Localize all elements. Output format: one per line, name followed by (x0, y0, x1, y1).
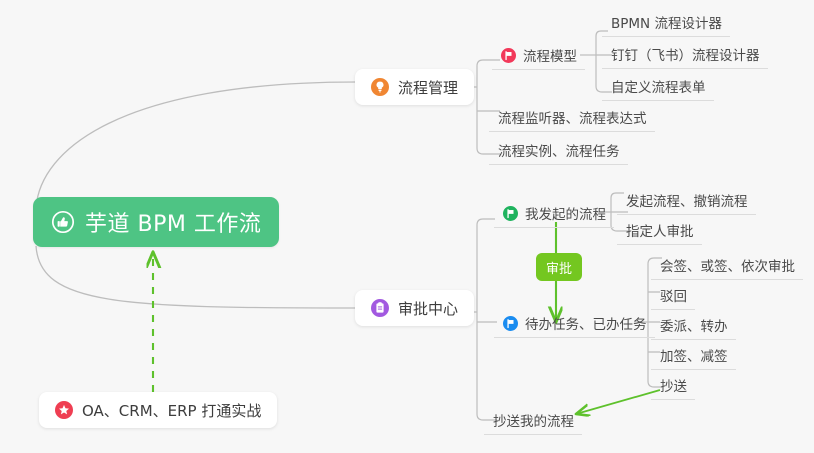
node-label-my-initiated: 我发起的流程 (525, 203, 606, 223)
node-cc-to-me[interactable]: 抄送我的流程 (484, 406, 582, 435)
node-delegate-transfer[interactable]: 委派、转办 (651, 311, 736, 340)
node-reject[interactable]: 驳回 (651, 281, 695, 310)
node-label-listener-expression: 流程监听器、流程表达式 (498, 107, 647, 127)
node-countersign[interactable]: 会签、或签、依次审批 (651, 251, 803, 280)
edge-root-to-process-management (36, 82, 356, 208)
node-label-dingtalk-feishu-designer: 钉钉（飞书）流程设计器 (611, 44, 760, 64)
node-label-instance-task: 流程实例、流程任务 (498, 140, 620, 160)
root-label: 芋道 BPM 工作流 (85, 206, 261, 238)
node-label-reject: 驳回 (660, 285, 687, 305)
node-label-cc: 抄送 (660, 375, 687, 395)
branch-label-process-management: 流程管理 (398, 77, 458, 98)
node-label-start-cancel: 发起流程、撤销流程 (626, 190, 748, 210)
node-label-add-remove-sign: 加签、减签 (660, 345, 728, 365)
mindmap-canvas: 芋道 BPM 工作流 流程管理 流程模型 BPMN 流程设计器 钉钉（飞书）流 (0, 0, 814, 453)
node-bpmn-designer[interactable]: BPMN 流程设计器 (602, 8, 730, 37)
node-add-remove-sign[interactable]: 加签、减签 (651, 341, 736, 370)
thumbs-up-icon (51, 210, 75, 234)
star-red-icon (55, 401, 73, 419)
node-label-todo-done-tasks: 待办任务、已办任务 (525, 313, 647, 333)
flag-green-icon (503, 206, 518, 221)
node-my-initiated[interactable]: 我发起的流程 (494, 199, 614, 228)
node-cc[interactable]: 抄送 (651, 371, 695, 400)
node-label-custom-process-form: 自定义流程表单 (611, 76, 706, 96)
arrow-cc-link (576, 390, 660, 414)
node-label-delegate-transfer: 委派、转办 (660, 315, 728, 335)
node-listener-expression[interactable]: 流程监听器、流程表达式 (489, 103, 655, 132)
node-label-process-model: 流程模型 (523, 45, 577, 65)
lightbulb-icon (371, 78, 389, 96)
node-start-cancel[interactable]: 发起流程、撤销流程 (617, 186, 756, 215)
node-dingtalk-feishu-designer[interactable]: 钉钉（飞书）流程设计器 (602, 40, 768, 69)
node-label-bpmn-designer: BPMN 流程设计器 (611, 12, 722, 32)
node-label-countersign: 会签、或签、依次审批 (660, 255, 795, 275)
branch-label-approval-center: 审批中心 (398, 298, 458, 319)
node-process-model[interactable]: 流程模型 (492, 41, 585, 70)
node-label-cc-to-me: 抄送我的流程 (493, 410, 574, 430)
tag-label-approval: 审批 (546, 258, 572, 277)
node-label-assignee-approval: 指定人审批 (626, 220, 694, 240)
root-node[interactable]: 芋道 BPM 工作流 (33, 197, 279, 247)
edge-root-to-approval-center (36, 246, 356, 308)
flag-red-icon (501, 48, 516, 63)
branch-node-process-management[interactable]: 流程管理 (355, 69, 474, 105)
integration-node-label: OA、CRM、ERP 打通实战 (82, 400, 261, 421)
node-custom-process-form[interactable]: 自定义流程表单 (602, 72, 714, 101)
node-assignee-approval[interactable]: 指定人审批 (617, 216, 702, 245)
node-instance-task[interactable]: 流程实例、流程任务 (489, 136, 628, 165)
clipboard-purple-icon (371, 299, 389, 317)
branch-node-approval-center[interactable]: 审批中心 (355, 290, 474, 326)
tag-approval[interactable]: 审批 (536, 253, 582, 281)
node-todo-done-tasks[interactable]: 待办任务、已办任务 (494, 309, 655, 338)
integration-node[interactable]: OA、CRM、ERP 打通实战 (39, 392, 277, 428)
flag-blue-icon (503, 316, 518, 331)
